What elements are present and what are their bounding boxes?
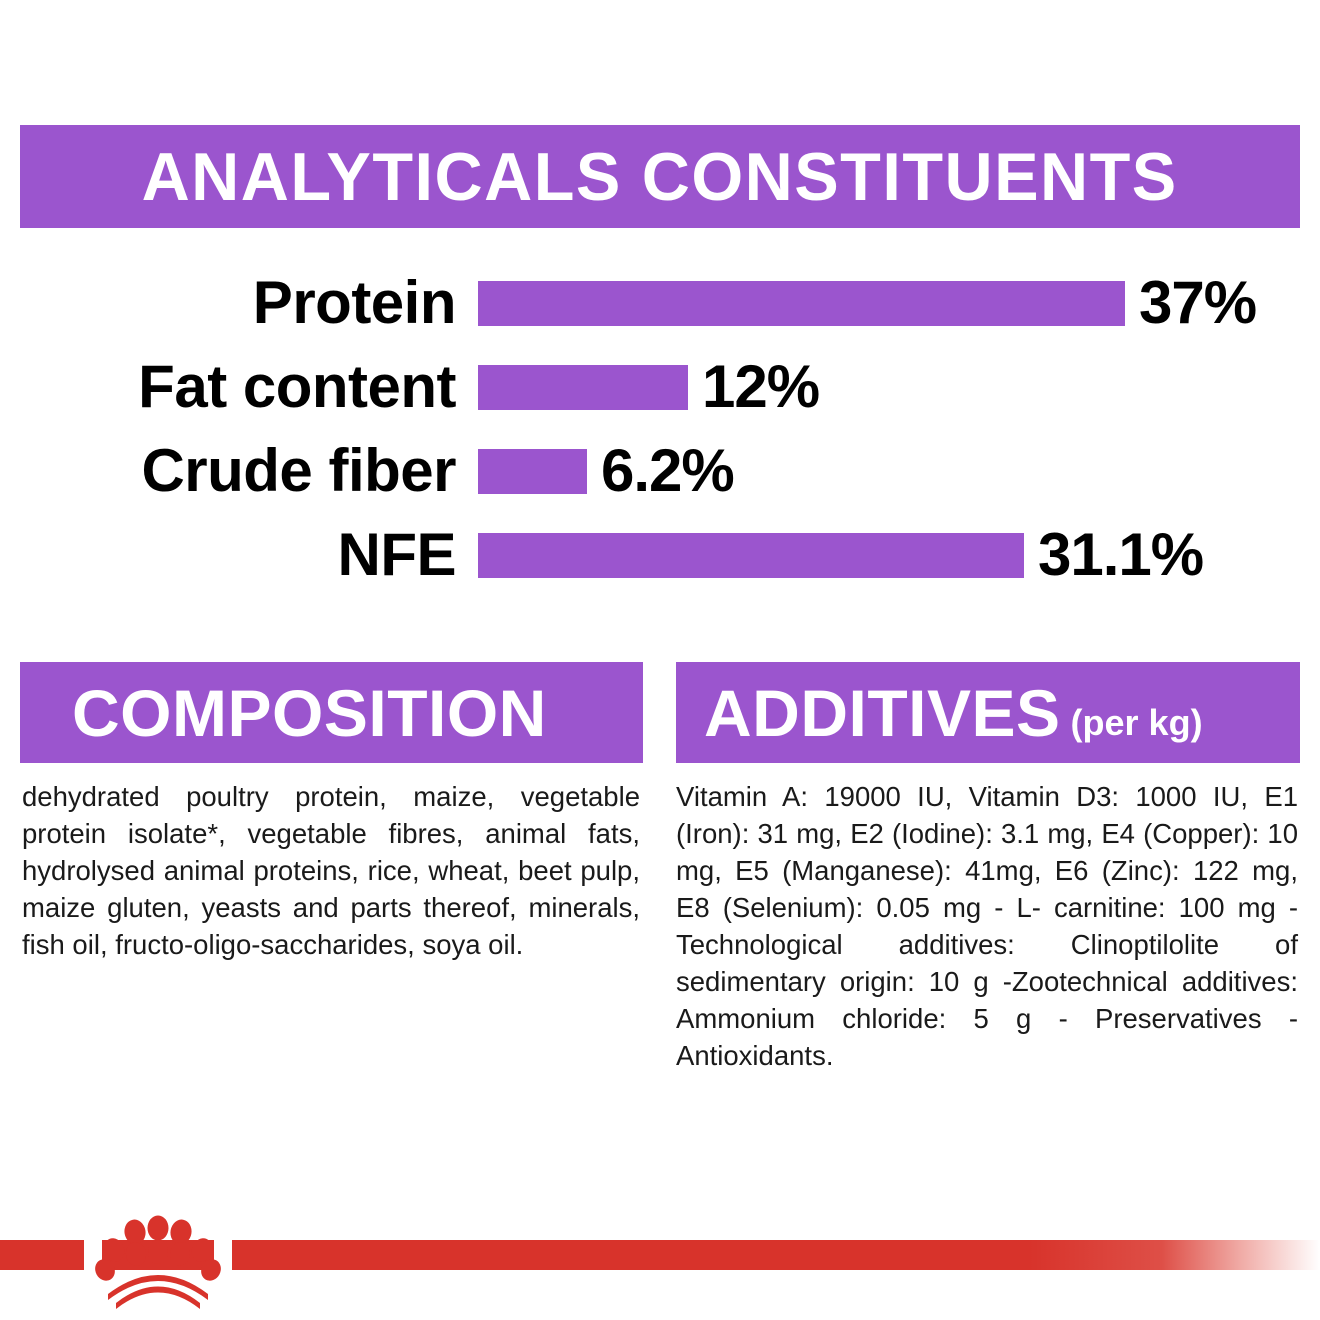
bar-category-label-crude-fiber: Crude fiber [0, 441, 478, 501]
analyticals-constituents-banner: ANALYTICALS CONSTITUENTS [20, 125, 1300, 228]
bar-value-crude-fiber: 6.2% [601, 441, 734, 501]
page-title: ANALYTICALS CONSTITUENTS [142, 143, 1178, 211]
additives-heading-suffix: (per kg) [1071, 705, 1203, 745]
royal-canin-crown-icon [88, 1202, 228, 1312]
chart-row: NFE 31.1% [0, 524, 1320, 586]
bar-value-protein: 37% [1139, 273, 1256, 333]
bar-protein [478, 281, 1125, 326]
bar-fat-content [478, 365, 688, 410]
bar-track: 6.2% [478, 440, 1320, 502]
bar-track: 12% [478, 356, 1320, 418]
bar-category-label-protein: Protein [0, 273, 478, 333]
additives-heading: ADDITIVES [676, 680, 1061, 746]
additives-header: ADDITIVES (per kg) [676, 662, 1300, 763]
chart-row: Fat content 12% [0, 356, 1320, 418]
bar-nfe [478, 533, 1024, 578]
bar-category-label-fat-content: Fat content [0, 357, 478, 417]
bar-value-fat-content: 12% [702, 357, 819, 417]
bar-crude-fiber [478, 449, 587, 494]
analyticals-bar-chart: Protein 37% Fat content 12% Crude fiber … [0, 272, 1320, 592]
additives-text: Vitamin A: 19000 IU, Vitamin D3: 1000 IU… [676, 778, 1298, 1074]
chart-row: Crude fiber 6.2% [0, 440, 1320, 502]
bar-category-label-nfe: NFE [0, 525, 478, 585]
composition-text: dehydrated poultry protein, maize, veget… [22, 778, 640, 963]
bar-track: 31.1% [478, 524, 1320, 586]
brand-footer [0, 1228, 1320, 1320]
composition-heading: COMPOSITION [20, 680, 547, 746]
composition-header: COMPOSITION [20, 662, 643, 763]
bar-value-nfe: 31.1% [1038, 525, 1203, 585]
chart-row: Protein 37% [0, 272, 1320, 334]
bar-track: 37% [478, 272, 1320, 334]
